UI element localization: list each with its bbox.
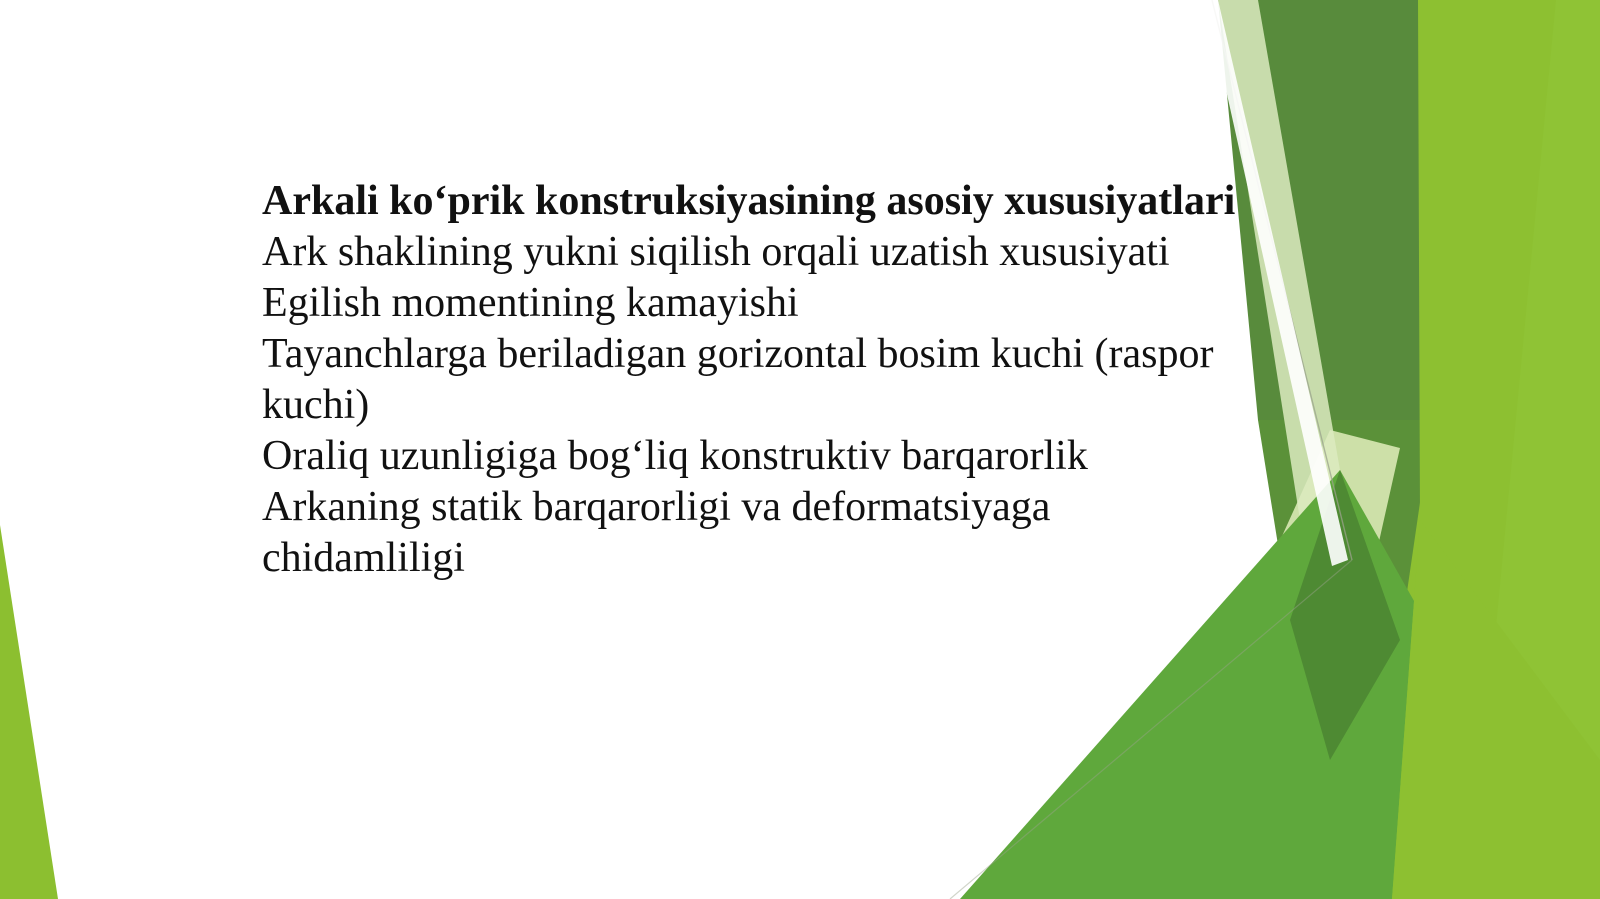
slide-text-block: Arkali ko‘prik konstruksiyasining asosiy… [262, 176, 1502, 584]
slide-body-line-3: Tayanchlarga beriladigan gorizontal bosi… [262, 329, 1502, 380]
slide-title-line: Arkali ko‘prik konstruksiyasining asosiy… [262, 176, 1502, 227]
slide-body-line-2: Egilish momentining kamayishi [262, 278, 1502, 329]
wedge-bottom-left [0, 525, 58, 899]
slide-body-line-6: Arkaning statik barqarorligi va deformat… [262, 482, 1502, 533]
slide-body-line-5: Oraliq uzunligiga bog‘liq konstruktiv ba… [262, 431, 1502, 482]
slide-body-line-7: chidamliligi [262, 533, 1502, 584]
slide-body-line-4: kuchi) [262, 380, 1502, 431]
hairline-diagonal-lower [950, 560, 1352, 899]
slide-canvas: Arkali ko‘prik konstruksiyasining asosiy… [0, 0, 1600, 899]
slide-body-line-1: Ark shaklining yukni siqilish orqali uza… [262, 227, 1502, 278]
